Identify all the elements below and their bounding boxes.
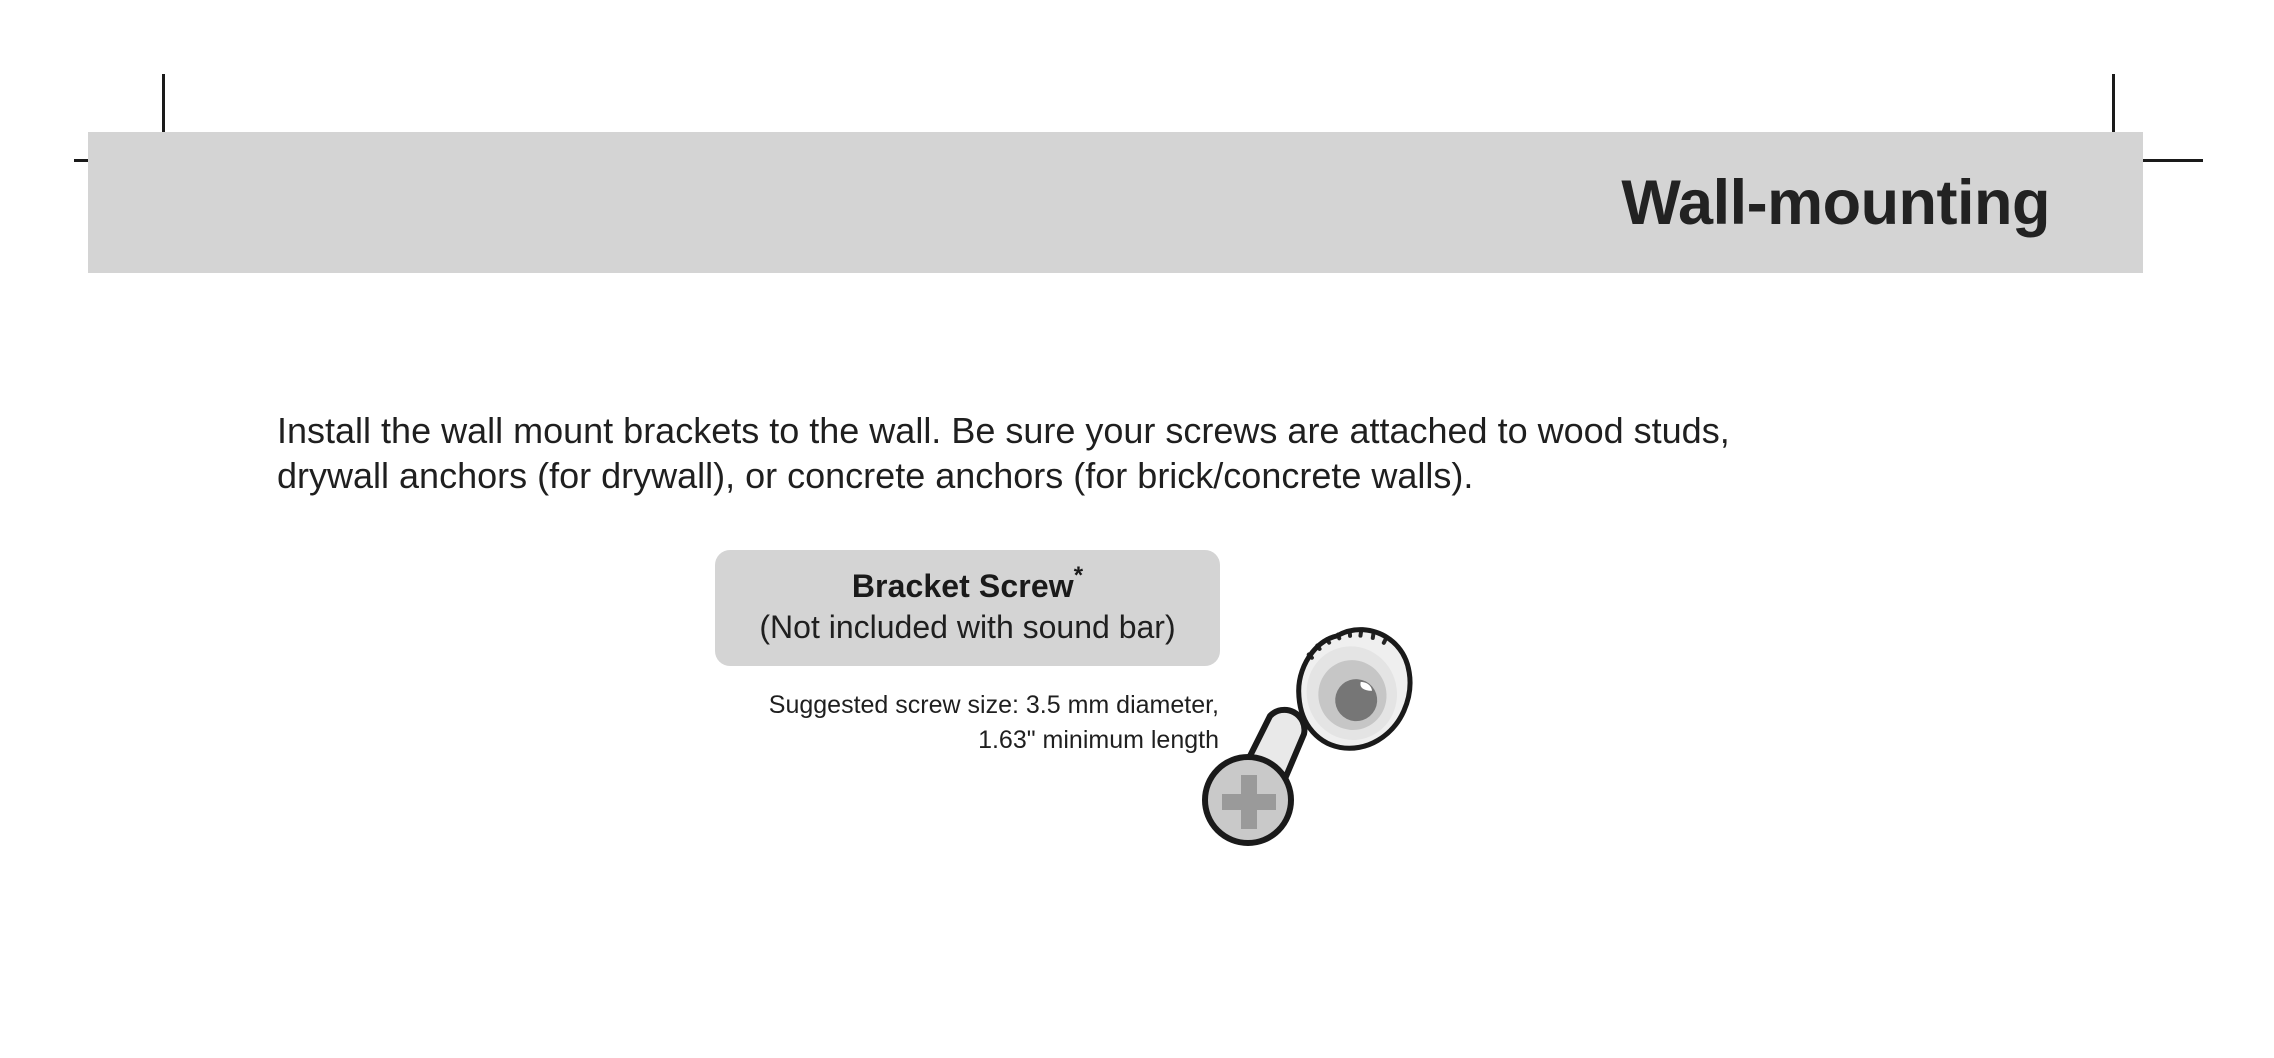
crop-mark-top-right-horizontal xyxy=(2135,159,2203,162)
bracket-screw-callout: Bracket Screw* (Not included with sound … xyxy=(715,550,1220,758)
bracket-screw-label-box: Bracket Screw* (Not included with sound … xyxy=(715,550,1220,666)
page-title: Wall-mounting xyxy=(1621,167,2050,239)
instruction-line-1: Install the wall mount brackets to the w… xyxy=(277,408,1837,453)
bracket-screw-title: Bracket Screw* xyxy=(735,567,1200,605)
screw-size-note: Suggested screw size: 3.5 mm diameter, 1… xyxy=(715,688,1220,758)
wall-mounting-instruction-page: Wall-mounting Install the wall mount bra… xyxy=(0,0,2274,1058)
bracket-screw-title-text: Bracket Screw xyxy=(852,568,1074,604)
screw-size-note-line-2: 1.63" minimum length xyxy=(715,723,1219,758)
hardware-illustration xyxy=(1200,595,1420,945)
footnote-asterisk: * xyxy=(1074,562,1083,589)
bracket-screw-subtitle: (Not included with sound bar) xyxy=(735,607,1200,647)
instruction-line-2: drywall anchors (for drywall), or concre… xyxy=(277,453,1837,498)
phillips-screw-icon xyxy=(1205,710,1304,843)
header-band: Wall-mounting xyxy=(88,132,2143,273)
screw-size-note-line-1: Suggested screw size: 3.5 mm diameter, xyxy=(715,688,1219,723)
instruction-paragraph: Install the wall mount brackets to the w… xyxy=(277,408,1837,498)
